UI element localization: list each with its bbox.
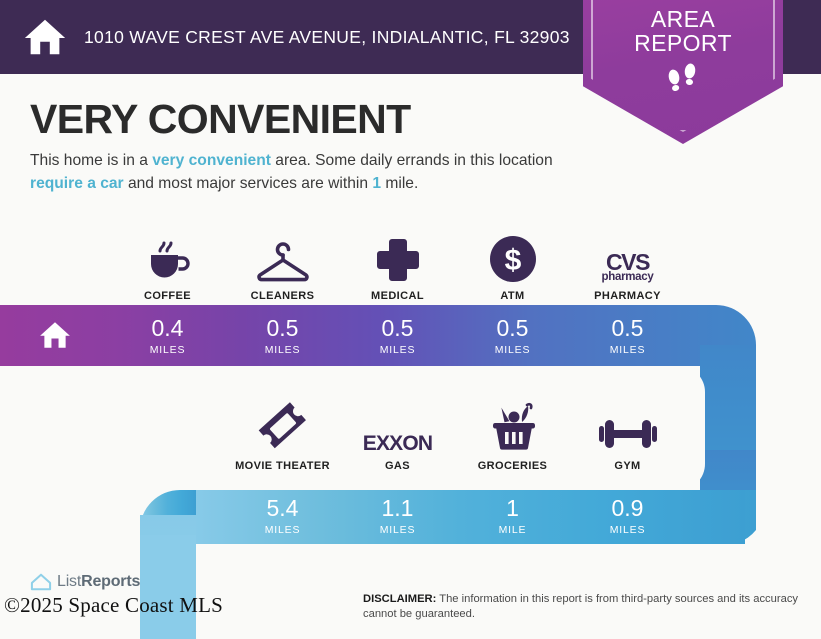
area-report-badge: AREA REPORT xyxy=(583,0,783,144)
dollar-circle-icon: $ xyxy=(489,229,537,283)
summary-part-4: mile. xyxy=(381,175,418,192)
amenity-groceries[interactable]: GROCERIES xyxy=(455,388,570,472)
amenity-pharmacy[interactable]: CVS pharmacy PHARMACY xyxy=(570,218,685,302)
disclaimer: DISCLAIMER: The information in this repo… xyxy=(363,592,803,622)
property-address: 1010 WAVE CREST AVE AVENUE, INDIALANTIC,… xyxy=(84,27,570,48)
hanger-icon xyxy=(254,229,312,283)
amenity-label: MEDICAL xyxy=(371,290,424,302)
home-icon xyxy=(22,14,68,60)
amenity-label: GAS xyxy=(385,460,410,472)
medical-cross-icon xyxy=(375,229,421,283)
coffee-cup-icon xyxy=(143,229,193,283)
summary-highlight-3: 1 xyxy=(372,175,381,192)
dumbbell-icon xyxy=(599,399,657,453)
summary-part-2: area. Some daily errands in this locatio… xyxy=(271,152,553,169)
disclaimer-label: DISCLAIMER: xyxy=(363,593,436,605)
amenity-label: ATM xyxy=(500,290,524,302)
listreports-wordmark: ListReports xyxy=(57,573,140,591)
amenity-cleaners[interactable]: CLEANERS xyxy=(225,218,340,302)
page-title: VERY CONVENIENT xyxy=(30,96,411,143)
area-report-page: 1010 WAVE CREST AVE AVENUE, INDIALANTIC,… xyxy=(0,0,821,639)
amenity-label: GROCERIES xyxy=(478,460,548,472)
amenity-label: COFFEE xyxy=(144,290,191,302)
amenity-label: MOVIE THEATER xyxy=(235,460,330,472)
exxon-wordmark: EXXON xyxy=(363,434,433,453)
summary-text: This home is in a very convenient area. … xyxy=(30,150,590,195)
cvs-wordmark: CVS xyxy=(602,252,654,273)
amenity-atm[interactable]: $ ATM xyxy=(455,218,570,302)
amenity-icons-row-1: COFFEE CLEANERS MEDICAL xyxy=(110,218,685,302)
badge-title: AREA REPORT xyxy=(634,8,732,55)
logo-text-light: List xyxy=(57,573,81,590)
footprints-icon xyxy=(663,62,703,96)
amenity-label: CLEANERS xyxy=(251,290,315,302)
badge-title-line2: REPORT xyxy=(634,32,732,56)
amenity-label: GYM xyxy=(614,460,640,472)
ticket-icon xyxy=(256,399,310,453)
amenity-movie-theater[interactable]: MOVIE THEATER xyxy=(225,388,340,472)
amenity-gym[interactable]: GYM xyxy=(570,388,685,472)
amenity-icons-row-2: MOVIE THEATER EXXON GAS xyxy=(225,388,685,472)
cvs-pharmacy-logo: CVS pharmacy xyxy=(602,229,654,283)
amenity-gas[interactable]: EXXON GAS xyxy=(340,388,455,472)
ribbon-segment-top xyxy=(0,305,756,366)
ribbon-left-tail-lower xyxy=(140,535,200,639)
amenity-label: PHARMACY xyxy=(594,290,661,302)
ribbon-segment-bottom-body xyxy=(196,490,745,544)
summary-part-1: This home is in a xyxy=(30,152,152,169)
listreports-house-icon xyxy=(30,572,52,592)
amenity-medical[interactable]: MEDICAL xyxy=(340,218,455,302)
listreports-logo[interactable]: ListReports xyxy=(30,572,140,592)
summary-highlight-2: require a car xyxy=(30,175,124,192)
badge-title-line1: AREA xyxy=(634,8,732,32)
svg-text:$: $ xyxy=(504,244,521,277)
summary-part-3: and most major services are within xyxy=(124,175,373,192)
amenity-coffee[interactable]: COFFEE xyxy=(110,218,225,302)
grocery-basket-icon xyxy=(487,399,539,453)
logo-text-bold: Reports xyxy=(81,573,140,590)
mls-watermark: ©2025 Space Coast MLS xyxy=(4,593,223,618)
summary-highlight-1: very convenient xyxy=(152,152,271,169)
exxon-logo: EXXON xyxy=(363,399,433,453)
cvs-sub-wordmark: pharmacy xyxy=(602,272,654,283)
home-icon xyxy=(38,318,72,352)
